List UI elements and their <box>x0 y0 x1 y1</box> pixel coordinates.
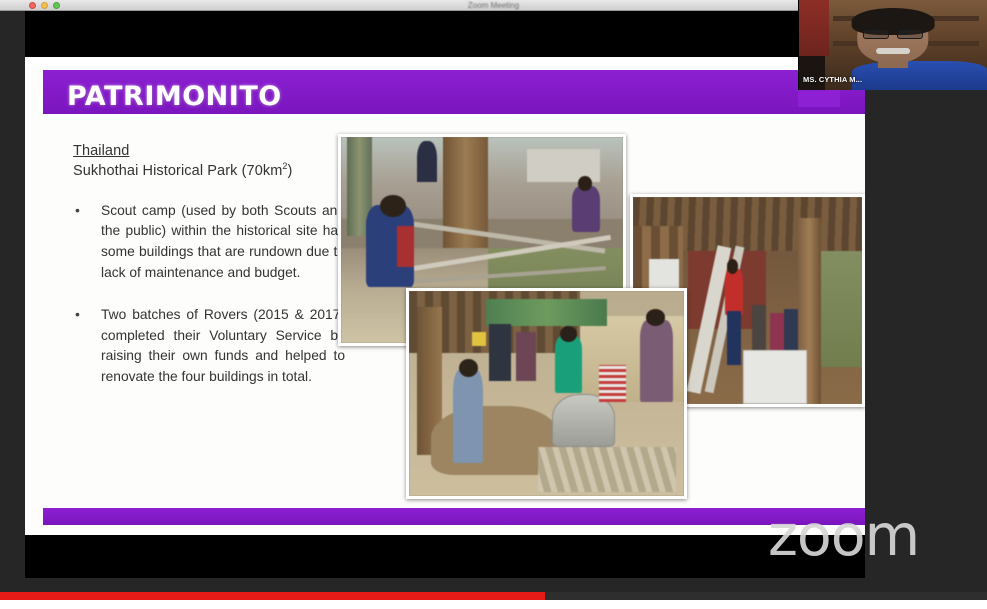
site-suffix: ) <box>288 163 293 179</box>
slide-bottom-bar <box>43 508 865 525</box>
list-item: Two batches of Rovers (2015 & 2017) comp… <box>73 305 345 387</box>
participant-shirt <box>852 61 987 90</box>
photo-well-digging <box>406 288 687 499</box>
country-label: Thailand <box>73 143 345 159</box>
presentation-slide: PATRIMONITO Thailand Sukhothai Historica… <box>25 57 865 535</box>
slide-title: PATRIMONITO <box>67 81 282 112</box>
window-bottom-edge <box>0 600 987 609</box>
slide-top-margin <box>25 57 865 66</box>
slide-text-column: Thailand Sukhothai Historical Park (70km… <box>73 143 345 410</box>
list-item: Scout camp (used by both Scouts and the … <box>73 201 345 283</box>
zoom-screen-share-window: Zoom Meeting PATRIMONITO Thailand Sukhot… <box>0 0 987 609</box>
site-name: Sukhothai Historical Park (70km <box>73 163 282 179</box>
glasses-icon <box>863 29 923 39</box>
participant-mouth <box>876 48 910 54</box>
playback-progress-fill <box>0 592 545 600</box>
video-background-accent <box>799 0 829 56</box>
participant-video-thumbnail[interactable]: MS. CYTHIA M... <box>798 0 987 90</box>
slide-bullet-list: Scout camp (used by both Scouts and the … <box>73 201 345 388</box>
participant-name-label: MS. CYTHIA M... <box>803 75 862 84</box>
playback-progress-track[interactable] <box>0 592 987 600</box>
site-label: Sukhothai Historical Park (70km2) <box>73 161 345 179</box>
